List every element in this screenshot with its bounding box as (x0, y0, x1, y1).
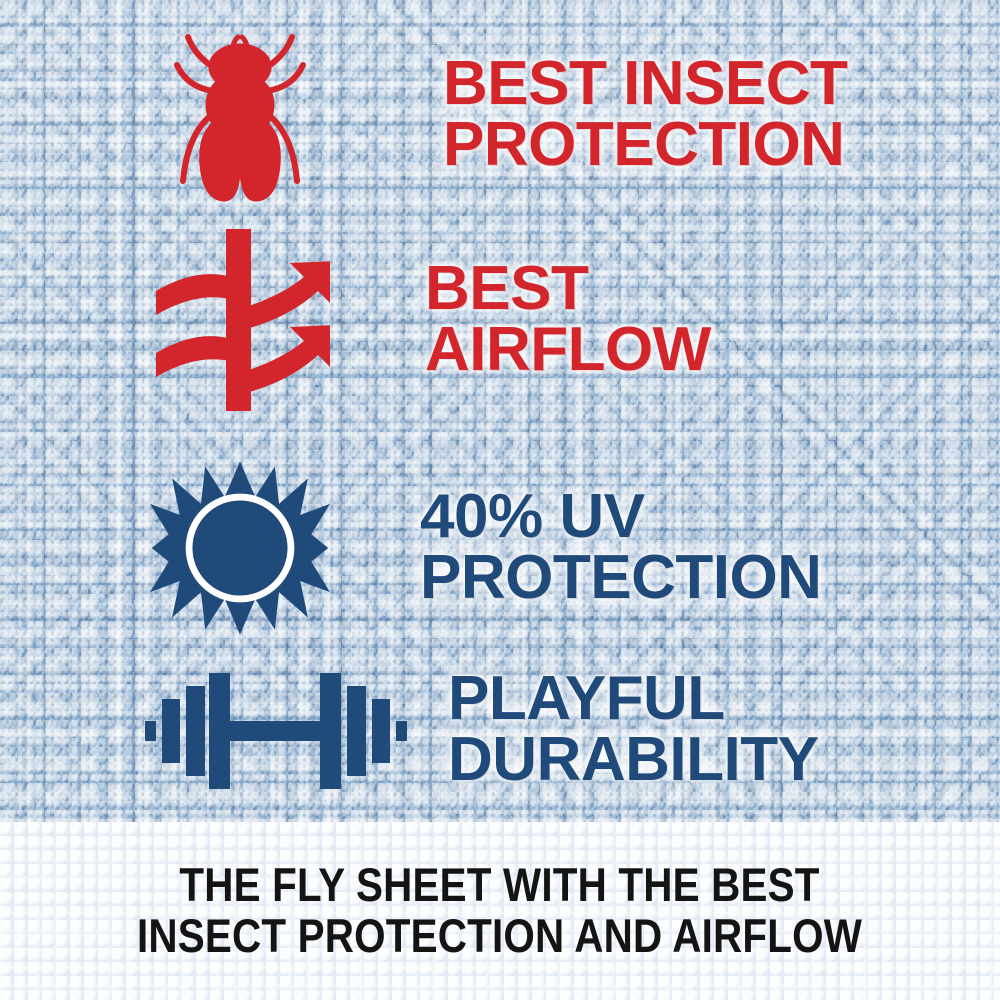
feature-label: BEST INSECT PROTECTION (443, 54, 847, 176)
feature-row-insect-protection: BEST INSECT PROTECTION (150, 20, 980, 210)
feature-text-insect-protection: BEST INSECT PROTECTION (443, 54, 847, 176)
feature-text-airflow: BEST AIRFLOW (425, 259, 711, 381)
feature-label: BEST AIRFLOW (425, 259, 711, 381)
caption-text: THE FLY SHEET WITH THE BEST INSECT PROTE… (137, 860, 862, 962)
feature-text-durability: PLAYFUL DURABILITY (448, 669, 818, 791)
caption-bar: THE FLY SHEET WITH THE BEST INSECT PROTE… (0, 822, 1000, 1000)
fly-icon (150, 20, 330, 210)
sun-uv-icon (150, 440, 330, 655)
feature-row-airflow: BEST AIRFLOW (150, 220, 980, 420)
dumbbell-icon (130, 650, 420, 810)
feature-label: 40% UV PROTECTION (420, 487, 821, 609)
feature-row-uv-protection: 40% UV PROTECTION (150, 440, 980, 655)
airflow-icon (150, 220, 330, 420)
feature-row-durability: PLAYFUL DURABILITY (130, 650, 980, 810)
feature-label: PLAYFUL DURABILITY (448, 669, 818, 791)
feature-text-uv-protection: 40% UV PROTECTION (420, 487, 821, 609)
product-feature-poster: BEST INSECT PROTECTION (0, 0, 1000, 1000)
